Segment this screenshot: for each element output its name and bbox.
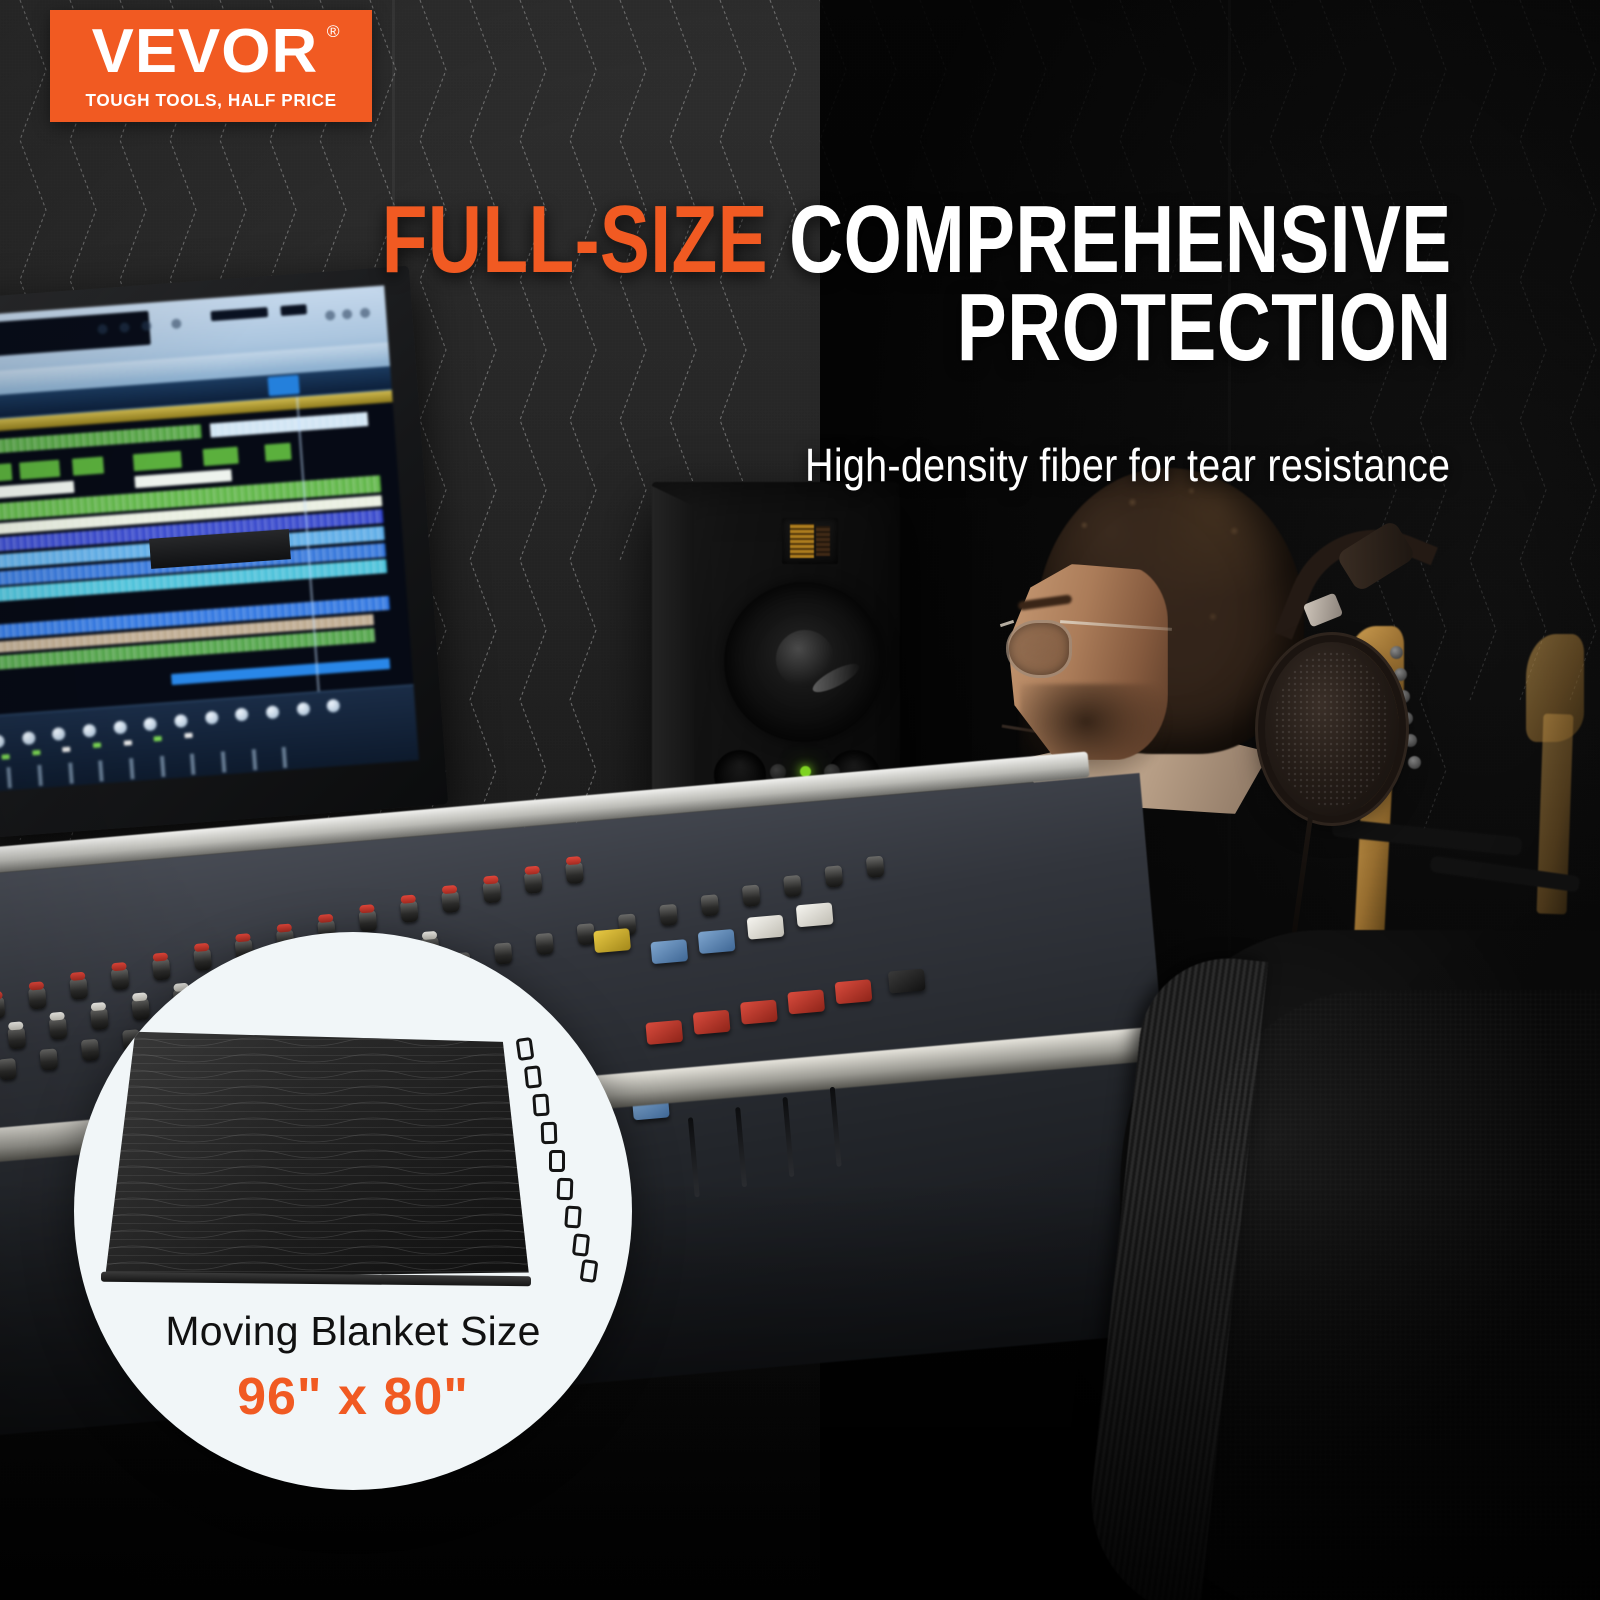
registered-trademark-icon: ®	[327, 23, 341, 40]
fader-cap-blue-2	[698, 929, 736, 954]
head	[1000, 472, 1300, 772]
glasses-lens	[1006, 620, 1072, 678]
headline-line-2: PROTECTION	[382, 284, 1452, 372]
headphone-earcup	[1265, 642, 1399, 816]
fader-cap-red-2	[693, 1010, 731, 1035]
fader-cap-red-1	[645, 1020, 683, 1045]
fader-cap-red-4	[787, 989, 825, 1014]
fader-cap-white-1	[747, 915, 785, 940]
blanket-bound-edge	[101, 1272, 531, 1287]
headline-block: FULL-SIZE COMPREHENSIVE PROTECTION	[80, 196, 1452, 373]
logo-text: VEVOR	[92, 17, 319, 86]
size-callout-badge: Moving Blanket Size 96" x 80"	[74, 932, 632, 1490]
blanket-surface	[103, 1028, 533, 1280]
headline-line-1: FULL-SIZE COMPREHENSIVE	[382, 196, 1452, 284]
fader-cap-black	[888, 969, 926, 994]
subheadline: High-density fiber for tear resistance	[805, 438, 1450, 492]
logo-wordmark: VEVOR ®	[92, 21, 331, 83]
fader-cap-red-5	[835, 979, 873, 1004]
fader-cap-white-2	[796, 902, 834, 927]
headline-highlight: FULL-SIZE	[382, 186, 768, 293]
blanket-binding-loops	[515, 1032, 601, 1282]
headphone-mesh-grille	[1274, 651, 1390, 807]
vevor-logo: VEVOR ® TOUGH TOOLS, HALF PRICE	[50, 10, 372, 122]
badge-size-value: 96" x 80"	[237, 1367, 469, 1427]
product-banner: VEVOR ® TOUGH TOOLS, HALF PRICE FULL-SIZ…	[0, 0, 1600, 1600]
blanket-product-photo	[97, 1028, 597, 1286]
fader-cap-blue-1	[650, 939, 688, 964]
fader-cap-red-3	[740, 1000, 778, 1025]
glasses-nose-bridge	[1000, 620, 1014, 627]
blanket-wave-stitching	[103, 1028, 533, 1280]
badge-label: Moving Blanket Size	[165, 1308, 540, 1355]
logo-tagline: TOUGH TOOLS, HALF PRICE	[85, 90, 336, 111]
